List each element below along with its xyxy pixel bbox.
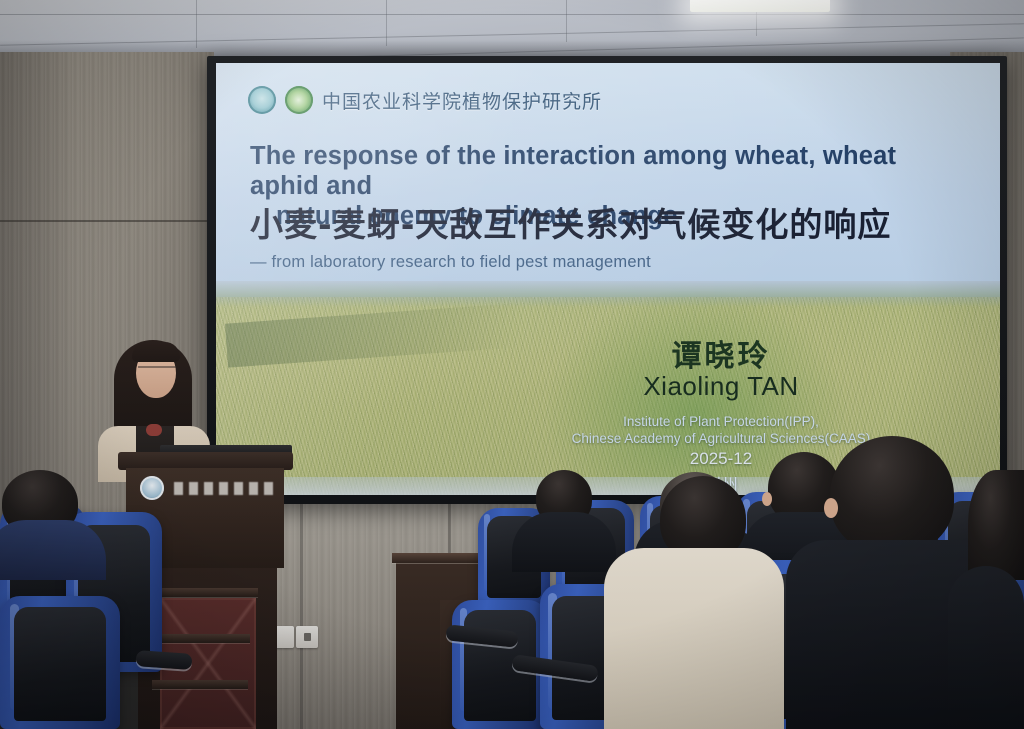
slide-subtitle: — from laboratory research to field pest… [250,253,651,272]
seat[interactable] [0,596,120,729]
audience-ear [762,492,772,506]
audience-desk-left-top [392,553,482,563]
audience-head [830,436,954,554]
title-en-line1: The response of the interaction among wh… [250,142,896,200]
presenter-neck-accent [146,424,162,436]
audience-head [968,470,1024,580]
audience-ear [824,498,838,518]
presenter-fringe [132,342,180,362]
podium-nameplate [174,482,278,495]
author-name-english: Xiaoling TAN [556,371,886,402]
audience-shoulders-hoodie [604,548,784,729]
podium-emblem-icon [140,476,164,500]
conference-photo: 中国农业科学院植物保护研究所 The response of the inter… [0,0,1024,729]
ceiling-light-panel [690,0,830,12]
caas-logo-icon [248,86,276,114]
glasses-icon [138,366,176,376]
organization-name: 中国农业科学院植物保护研究所 [322,87,602,114]
podium-shelf [152,680,248,689]
audience-shoulders [0,520,106,580]
author-name-chinese: 谭晓玲 [556,331,886,375]
slide-title-chinese: 小麦-麦蚜-天敌互作关系对气候变化的响应 [250,206,990,244]
ipp-logo-icon [285,86,313,114]
projection-screen: 中国农业科学院植物保护研究所 The response of the inter… [216,63,1000,495]
wall-plate-socket [296,626,318,648]
affiliation-line1: Institute of Plant Protection(IPP), [516,413,926,430]
slide-header: 中国农业科学院植物保护研究所 [248,86,602,114]
audience-shoulders [512,512,616,572]
audience-shoulders [948,566,1024,729]
